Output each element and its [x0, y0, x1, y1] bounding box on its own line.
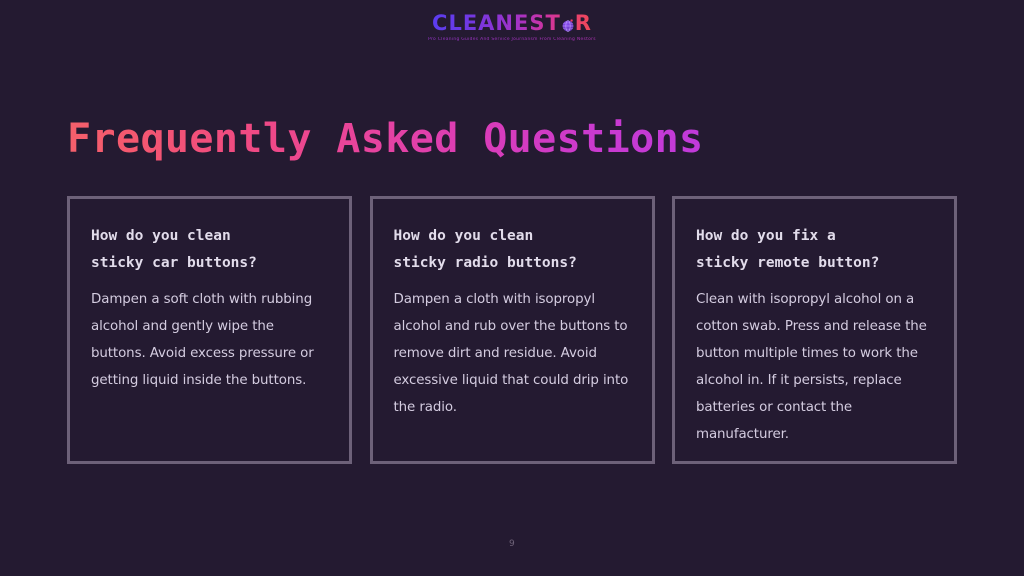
- faq-card: How do you fix a sticky remote button? C…: [672, 196, 957, 464]
- globe-icon: [561, 18, 575, 32]
- faq-question: How do you fix a sticky remote button?: [696, 223, 935, 277]
- faq-card: How do you clean sticky radio buttons? D…: [370, 196, 655, 464]
- brand-name-before-globe: CLEANEST: [432, 11, 561, 35]
- brand-logo: CLEANESTR Pro Cleaning Guides And Servic…: [0, 12, 1024, 43]
- faq-card: How do you clean sticky car buttons? Dam…: [67, 196, 352, 464]
- brand-name-after-globe: R: [575, 11, 592, 35]
- faq-card-row: How do you clean sticky car buttons? Dam…: [67, 196, 957, 464]
- faq-answer: Dampen a cloth with isopropyl alcohol an…: [394, 286, 633, 421]
- brand-tagline: Pro Cleaning Guides And Service Journali…: [0, 37, 1024, 43]
- brand-wordmark: CLEANESTR: [432, 12, 592, 34]
- page-number: 9: [0, 538, 1024, 550]
- faq-question: How do you clean sticky radio buttons?: [394, 223, 633, 277]
- faq-answer: Clean with isopropyl alcohol on a cotton…: [696, 286, 935, 448]
- faq-answer: Dampen a soft cloth with rubbing alcohol…: [91, 286, 330, 394]
- slide-root: CLEANESTR Pro Cleaning Guides And Servic…: [0, 0, 1024, 576]
- faq-question: How do you clean sticky car buttons?: [91, 223, 330, 277]
- page-title: Frequently Asked Questions: [67, 114, 704, 164]
